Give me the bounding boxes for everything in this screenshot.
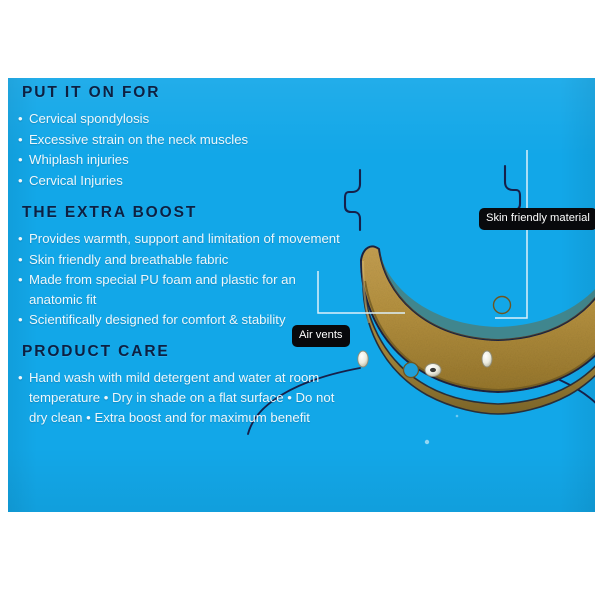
bullet-list-product-care: •Hand wash with mild detergent and water…: [16, 368, 346, 428]
bullet-dot-icon: •: [18, 229, 23, 249]
list-item-text: Made from special PU foam and plastic fo…: [29, 272, 296, 307]
blue-info-panel: Skin friendly material Air vents PUT IT …: [8, 78, 595, 512]
list-item-text: Cervical spondylosis: [29, 111, 149, 126]
list-item: •Whiplash injuries: [16, 150, 346, 170]
bullet-dot-icon: •: [18, 310, 23, 330]
bullet-dot-icon: •: [18, 171, 23, 191]
list-item-text: Whiplash injuries: [29, 152, 129, 167]
list-item-text: Excessive strain on the neck muscles: [29, 132, 248, 147]
list-item-text: Scientifically designed for comfort & st…: [29, 312, 286, 327]
leader-line-skin-friendly-material: [495, 150, 527, 318]
list-item: •Excessive strain on the neck muscles: [16, 130, 346, 150]
bullet-dot-icon: •: [18, 130, 23, 150]
list-item: •Skin friendly and breathable fabric: [16, 250, 346, 270]
list-item: •Cervical spondylosis: [16, 109, 346, 129]
list-item: •Cervical Injuries: [16, 171, 346, 191]
eyelet-left: [358, 351, 368, 367]
bullet-dot-icon: •: [18, 368, 23, 388]
callout-label: Air vents: [299, 329, 343, 341]
list-item: •Provides warmth, support and limitation…: [16, 229, 346, 249]
list-item-text: Skin friendly and breathable fabric: [29, 252, 228, 267]
list-item-text: Provides warmth, support and limitation …: [29, 231, 340, 246]
bullet-list-put-it-on-for: •Cervical spondylosis •Excessive strain …: [16, 109, 346, 190]
eyelet-right: [482, 351, 492, 367]
list-item-text: Cervical Injuries: [29, 173, 123, 188]
section-heading-put-it-on-for: PUT IT ON FOR: [22, 84, 346, 102]
list-item-text: Hand wash with mild detergent and water …: [29, 370, 334, 425]
product-label-page: Skin friendly material Air vents PUT IT …: [0, 0, 600, 600]
bullet-dot-icon: •: [18, 270, 23, 290]
bullet-dot-icon: •: [18, 250, 23, 270]
bullet-list-the-extra-boost: •Provides warmth, support and limitation…: [16, 229, 346, 330]
callout-skin-friendly-material: Skin friendly material: [479, 208, 595, 230]
section-heading-the-extra-boost: THE EXTRA BOOST: [22, 204, 346, 222]
list-item: •Made from special PU foam and plastic f…: [16, 270, 346, 309]
info-text-column: PUT IT ON FOR •Cervical spondylosis •Exc…: [16, 84, 346, 429]
list-item: •Hand wash with mild detergent and water…: [16, 368, 346, 428]
vent-hole-center: [404, 363, 419, 378]
callout-label: Skin friendly material: [486, 212, 590, 224]
bullet-dot-icon: •: [18, 109, 23, 129]
callout-air-vents: Air vents: [292, 325, 350, 347]
bullet-dot-icon: •: [18, 150, 23, 170]
vent-hole-upper-right: [494, 297, 511, 314]
